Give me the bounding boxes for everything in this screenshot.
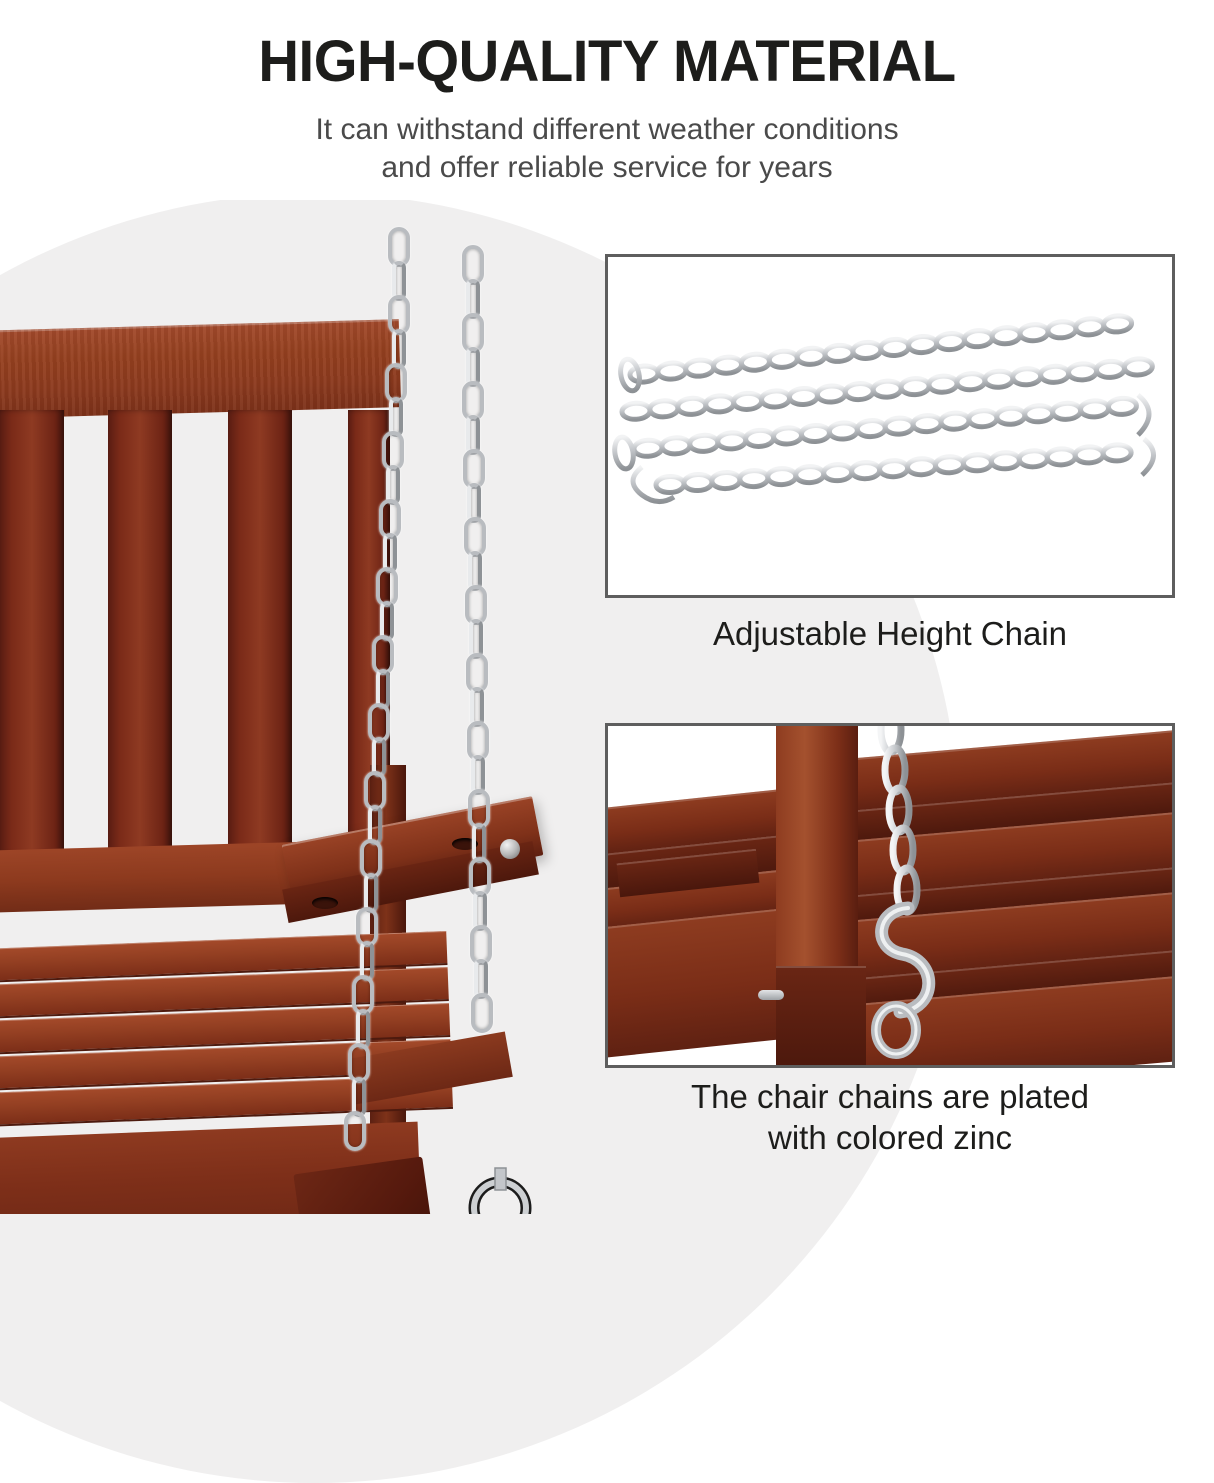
page-subtitle: It can withstand different weather condi… (0, 111, 1214, 188)
hero-stage (0, 205, 560, 1214)
caption-text-line-1: The chair chains are plated (605, 1076, 1175, 1117)
backrest-slat (0, 410, 64, 855)
s-hook-icon (882, 908, 929, 1012)
caption-adjustable-height-chain: Adjustable Height Chain (605, 613, 1175, 654)
backrest-slat (228, 410, 292, 855)
caption-text-line-2: with colored zinc (605, 1117, 1175, 1158)
hero-product-image (0, 205, 560, 1214)
chain-and-s-hook-svg (846, 723, 1006, 1068)
panel-colored-zinc-chain (605, 723, 1175, 1068)
bolt-icon (758, 990, 784, 1000)
armrest-bolt-icon (500, 839, 520, 859)
swing-corner-closeup-image (608, 726, 1172, 1065)
panel-adjustable-height-chain (605, 254, 1175, 598)
caption-colored-zinc-chain: The chair chains are plated with colored… (605, 1076, 1175, 1159)
header: HIGH-QUALITY MATERIAL It can withstand d… (0, 0, 1214, 200)
backrest-top-rail (0, 319, 401, 419)
page-title: HIGH-QUALITY MATERIAL (18, 0, 1196, 91)
chain-link (471, 993, 493, 1033)
armrest-chain-hole (312, 897, 338, 909)
caption-text: Adjustable Height Chain (605, 613, 1175, 654)
backrest-slat (108, 410, 172, 855)
chain-coil-svg (608, 257, 1175, 598)
subtitle-line-2: and offer reliable service for years (0, 149, 1214, 187)
chain-coil-image (608, 257, 1172, 595)
chain-link (344, 1111, 366, 1151)
eye-bolt-ring-icon (455, 1160, 545, 1214)
subtitle-line-1: It can withstand different weather condi… (0, 111, 1214, 149)
seat-slats-group (0, 931, 453, 1139)
